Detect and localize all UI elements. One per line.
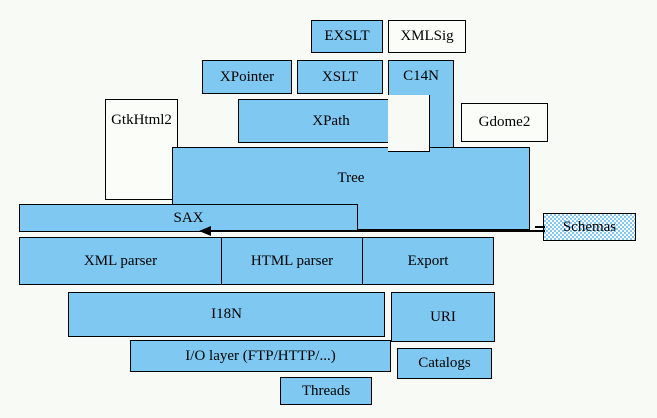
schemas-to-sax-arrow-line bbox=[205, 230, 545, 232]
node-gtkhtml2-label: GtkHtml2 bbox=[111, 113, 172, 128]
node-xpath-label: XPath bbox=[312, 114, 350, 129]
node-io-layer[interactable]: I/O layer (FTP/HTTP/...) bbox=[130, 340, 391, 372]
node-xslt[interactable]: XSLT bbox=[297, 60, 383, 94]
node-gtkhtml2[interactable]: GtkHtml2 bbox=[105, 99, 178, 200]
node-catalogs[interactable]: Catalogs bbox=[397, 348, 492, 379]
node-exslt-label: EXSLT bbox=[324, 29, 369, 44]
node-c14n[interactable]: C14N bbox=[388, 60, 454, 150]
node-xml-parser-label: XML parser bbox=[84, 254, 157, 269]
node-export-label: Export bbox=[408, 254, 449, 269]
node-gdome2[interactable]: Gdome2 bbox=[461, 103, 548, 142]
node-xml-parser[interactable]: XML parser bbox=[19, 237, 222, 285]
node-xmlsig[interactable]: XMLSig bbox=[388, 20, 466, 53]
node-html-parser[interactable]: HTML parser bbox=[221, 237, 363, 285]
node-threads-label: Threads bbox=[302, 384, 350, 399]
node-uri-label: URI bbox=[430, 310, 456, 325]
node-uri[interactable]: URI bbox=[391, 292, 495, 342]
node-gdome2-label: Gdome2 bbox=[479, 115, 531, 130]
node-sax[interactable]: SAX bbox=[19, 204, 358, 232]
node-io-layer-label: I/O layer (FTP/HTTP/...) bbox=[185, 349, 335, 364]
node-xmlsig-label: XMLSig bbox=[400, 29, 453, 44]
node-xslt-label: XSLT bbox=[322, 70, 358, 85]
node-catalogs-label: Catalogs bbox=[418, 356, 471, 371]
node-i18n-label: I18N bbox=[211, 307, 242, 322]
node-i18n[interactable]: I18N bbox=[68, 292, 385, 337]
node-threads[interactable]: Threads bbox=[280, 377, 372, 405]
node-schemas[interactable]: Schemas bbox=[543, 213, 636, 241]
node-xpointer[interactable]: XPointer bbox=[202, 60, 292, 94]
node-html-parser-label: HTML parser bbox=[251, 254, 333, 269]
architecture-diagram: EXSLT XMLSig XPointer XSLT C14N GtkHtml2… bbox=[0, 0, 657, 418]
node-tree-label: Tree bbox=[338, 171, 365, 186]
node-xpointer-label: XPointer bbox=[220, 70, 274, 85]
c14n-notch bbox=[388, 95, 430, 152]
node-exslt[interactable]: EXSLT bbox=[311, 20, 383, 53]
node-sax-label: SAX bbox=[173, 211, 203, 226]
node-c14n-label: C14N bbox=[403, 69, 439, 84]
schemas-stub-connector bbox=[535, 226, 545, 228]
node-export[interactable]: Export bbox=[362, 237, 494, 285]
node-schemas-label: Schemas bbox=[563, 220, 616, 235]
schemas-to-sax-arrow-head bbox=[199, 226, 211, 236]
